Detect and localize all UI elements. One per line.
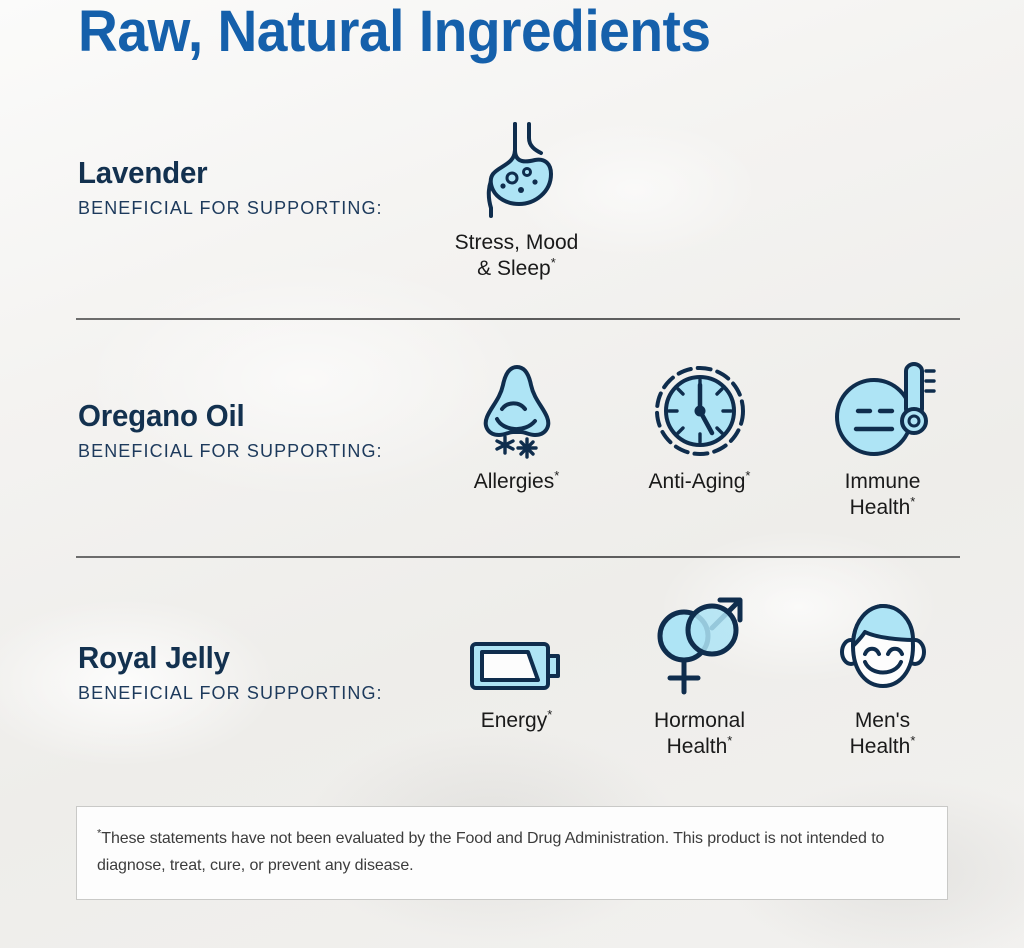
sick-face-thermometer-icon bbox=[830, 364, 936, 459]
benefit-label: Immune Health* bbox=[845, 469, 921, 521]
benefit-item-energy: Energy* bbox=[425, 603, 608, 760]
benefit-icon-list: Energy* Hormonal Health* bbox=[425, 603, 974, 760]
ingredient-name: Royal Jelly bbox=[78, 640, 430, 676]
benefit-label: Stress, Mood & Sleep* bbox=[455, 230, 579, 282]
benefit-icon-list: Allergies* bbox=[425, 364, 974, 521]
ingredient-name: Lavender bbox=[78, 155, 430, 191]
ingredient-heading-block: Lavender BENEFICIAL FOR SUPPORTING: bbox=[78, 155, 448, 219]
ingredient-name: Oregano Oil bbox=[78, 398, 430, 434]
page-title: Raw, Natural Ingredients bbox=[78, 0, 711, 66]
beneficial-label: BENEFICIAL FOR SUPPORTING: bbox=[78, 441, 448, 462]
mans-face-icon bbox=[831, 603, 935, 698]
benefit-label: Men's Health* bbox=[850, 708, 916, 760]
row-divider-2 bbox=[76, 556, 960, 558]
benefit-item-mens-health: Men's Health* bbox=[791, 603, 974, 760]
ingredients-infographic: Raw, Natural Ingredients Lavender BENEFI… bbox=[0, 0, 1024, 948]
benefit-label: Energy* bbox=[481, 708, 553, 734]
benefit-item-allergies: Allergies* bbox=[425, 364, 608, 521]
clock-icon bbox=[652, 364, 748, 459]
beneficial-label: BENEFICIAL FOR SUPPORTING: bbox=[78, 683, 448, 704]
row-divider-1 bbox=[76, 318, 960, 320]
benefit-icon-list: Stress, Mood & Sleep* bbox=[425, 125, 608, 282]
benefit-label: Anti-Aging* bbox=[649, 469, 751, 495]
benefit-item-stress-mood-sleep: Stress, Mood & Sleep* bbox=[425, 125, 608, 282]
benefit-item-hormonal-health: Hormonal Health* bbox=[608, 603, 791, 760]
benefit-label: Allergies* bbox=[474, 469, 560, 495]
benefit-label: Hormonal Health* bbox=[654, 708, 745, 760]
benefit-item-anti-aging: Anti-Aging* bbox=[608, 364, 791, 521]
battery-icon bbox=[468, 603, 566, 698]
ingredient-heading-block: Oregano Oil BENEFICIAL FOR SUPPORTING: bbox=[78, 398, 448, 462]
ingredient-heading-block: Royal Jelly BENEFICIAL FOR SUPPORTING: bbox=[78, 640, 448, 704]
nose-pollen-icon bbox=[469, 364, 565, 459]
stomach-icon bbox=[471, 125, 563, 220]
disclaimer-box: *These statements have not been evaluate… bbox=[76, 806, 948, 900]
disclaimer-text: *These statements have not been evaluate… bbox=[97, 825, 927, 879]
gender-symbols-icon bbox=[650, 603, 750, 698]
benefit-item-immune-health: Immune Health* bbox=[791, 364, 974, 521]
beneficial-label: BENEFICIAL FOR SUPPORTING: bbox=[78, 198, 448, 219]
